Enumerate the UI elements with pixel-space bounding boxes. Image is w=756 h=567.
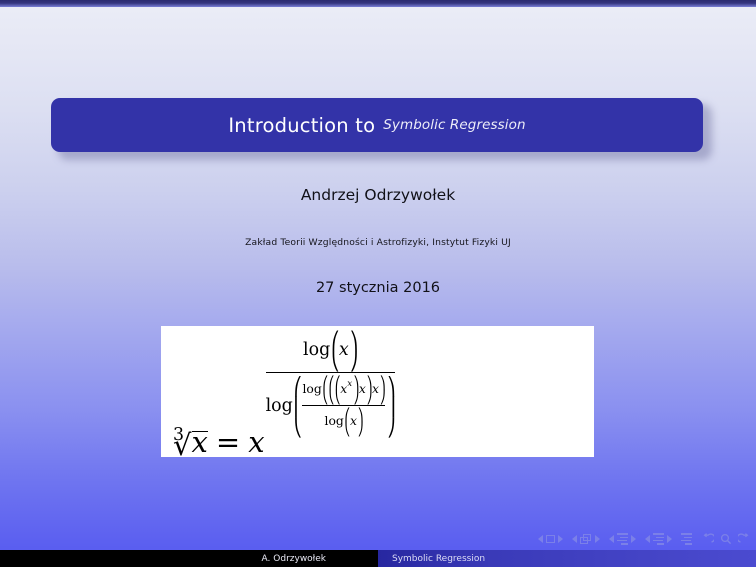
log-operator-outer: log — [266, 398, 293, 415]
formula-content: x 3 = x log (x) log ( — [161, 326, 594, 457]
search-icon[interactable] — [720, 533, 732, 545]
document-navigation-group[interactable] — [681, 533, 692, 544]
presentation-slide: Introduction to Symbolic Regression Andr… — [0, 0, 756, 567]
document-icon[interactable] — [681, 533, 692, 544]
back-icon[interactable] — [702, 533, 714, 545]
next-slide-icon[interactable] — [558, 535, 563, 543]
current-frame-icon[interactable] — [580, 534, 592, 544]
current-subsection-icon[interactable] — [617, 533, 628, 544]
top-decoration-bar — [0, 0, 756, 7]
math-formula: x 3 = x log (x) log ( — [165, 328, 397, 454]
slide-title: Introduction to — [228, 114, 375, 137]
forward-icon[interactable] — [738, 533, 750, 545]
next-subsection-icon[interactable] — [631, 535, 636, 543]
title-box: Introduction to Symbolic Regression — [51, 98, 703, 152]
base-variable: x — [248, 436, 264, 452]
footer-author: A. Odrzywołek — [0, 550, 378, 567]
formula-image-panel: x 3 = x log (x) log ( — [161, 326, 594, 457]
previous-frame-icon[interactable] — [572, 535, 577, 543]
section-navigation-group[interactable] — [645, 533, 672, 544]
slide-footer: A. Odrzywołek Symbolic Regression — [0, 550, 756, 567]
radicand-variable: x — [192, 436, 208, 452]
exponent-fraction: log (x) log ( log((( xx ) — [265, 328, 396, 436]
root-index: 3 — [173, 428, 184, 440]
subsection-navigation-group[interactable] — [609, 533, 636, 544]
previous-section-icon[interactable] — [645, 535, 650, 543]
next-frame-icon[interactable] — [595, 535, 600, 543]
slide-title-emphasis: Symbolic Regression — [383, 117, 525, 133]
inner-fraction: log((( xx ) x ) x ) lo — [301, 375, 386, 436]
institute-line: Zakład Teorii Względności i Astrofizyki,… — [0, 237, 756, 248]
footer-title: Symbolic Regression — [378, 550, 756, 567]
presentation-date: 27 stycznia 2016 — [0, 280, 756, 296]
previous-subsection-icon[interactable] — [609, 535, 614, 543]
current-section-icon[interactable] — [653, 533, 664, 544]
current-slide-icon[interactable] — [546, 535, 555, 543]
history-navigation-group[interactable] — [702, 533, 750, 545]
log-operator: log — [303, 342, 330, 359]
slide-navigation-group[interactable] — [538, 535, 563, 543]
next-section-icon[interactable] — [667, 535, 672, 543]
equals-sign: = — [216, 438, 240, 447]
author-name: Andrzej Odrzywołek — [0, 186, 756, 204]
frame-navigation-group[interactable] — [572, 534, 600, 544]
previous-slide-icon[interactable] — [538, 535, 543, 543]
beamer-navigation-symbols[interactable] — [538, 530, 750, 548]
